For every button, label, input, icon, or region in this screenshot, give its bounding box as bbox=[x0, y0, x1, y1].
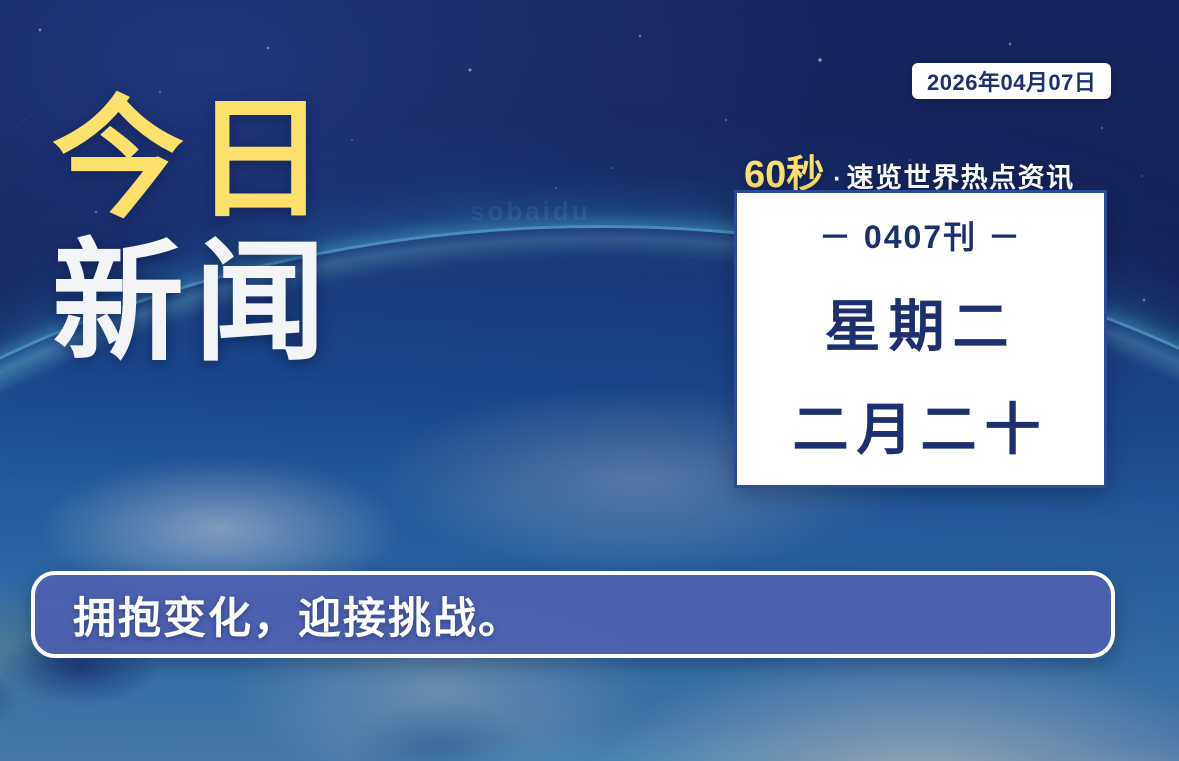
slogan-text: 拥抱变化，迎接挑战。 bbox=[73, 584, 523, 646]
date-badge-label: 2026年04月07日 bbox=[927, 65, 1096, 97]
date-badge: 2026年04月07日 bbox=[912, 63, 1111, 99]
lunar-date-label: 二月二十 bbox=[793, 385, 1049, 466]
news-poster: sobaidu 今日 新闻 2026年04月07日 60秒 · 速览世界热点资讯… bbox=[0, 0, 1179, 761]
issue-card: － 0407刊 － 星期二 二月二十 bbox=[734, 190, 1107, 488]
issue-number: － 0407刊 － bbox=[819, 212, 1022, 258]
weekday-label: 星期二 bbox=[825, 282, 1017, 363]
watermark-text: sobaidu bbox=[470, 196, 591, 227]
masthead-line-news: 新闻 bbox=[52, 239, 472, 368]
masthead-line-today: 今日 bbox=[52, 96, 472, 225]
masthead: 今日 新闻 bbox=[52, 96, 472, 369]
slogan-bar: 拥抱变化，迎接挑战。 bbox=[31, 571, 1115, 658]
